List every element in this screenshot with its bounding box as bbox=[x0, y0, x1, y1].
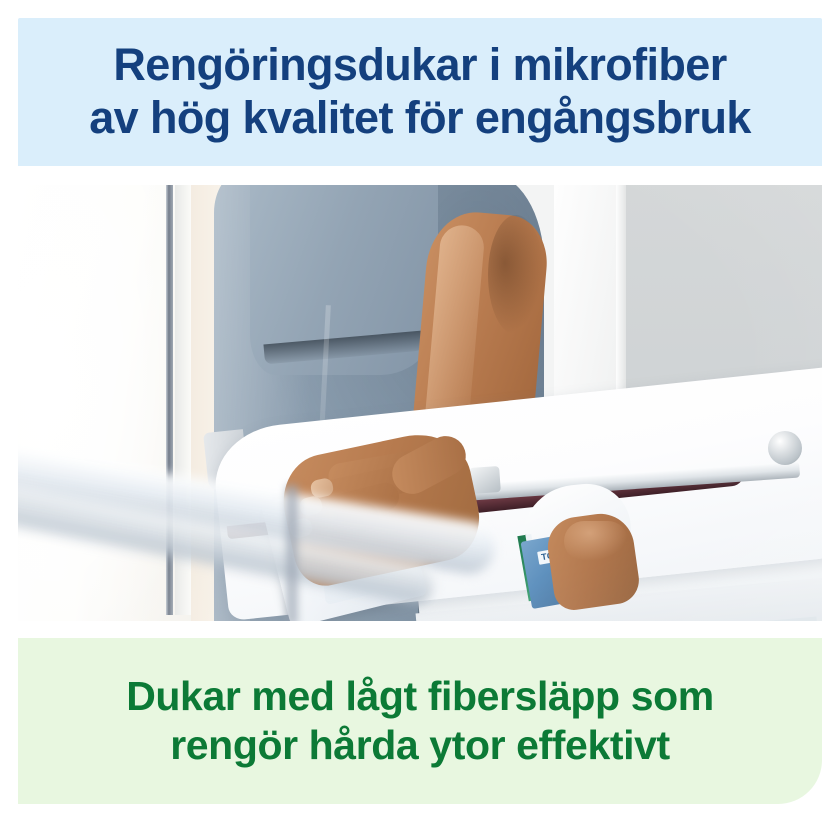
window-light-glow bbox=[18, 185, 168, 621]
top-headline-banner: Rengöringsdukar i mikrofiber av hög kval… bbox=[18, 18, 822, 166]
photo-scene: TORK bbox=[18, 185, 822, 621]
hand-knuckle-highlight bbox=[564, 521, 628, 561]
elbow-shadow bbox=[488, 215, 544, 335]
hero-photo: TORK bbox=[18, 185, 822, 621]
marketing-banner-page: Rengöringsdukar i mikrofiber av hög kval… bbox=[0, 0, 840, 840]
bottom-subline-banner: Dukar med lågt fibersläpp som rengör hår… bbox=[18, 638, 822, 804]
headline-text: Rengöringsdukar i mikrofiber av hög kval… bbox=[89, 39, 751, 144]
table-rail-end-cap bbox=[768, 431, 802, 465]
subline-text: Dukar med lågt fibersläpp som rengör hår… bbox=[126, 672, 714, 770]
foreground-post-blurred bbox=[286, 485, 298, 621]
